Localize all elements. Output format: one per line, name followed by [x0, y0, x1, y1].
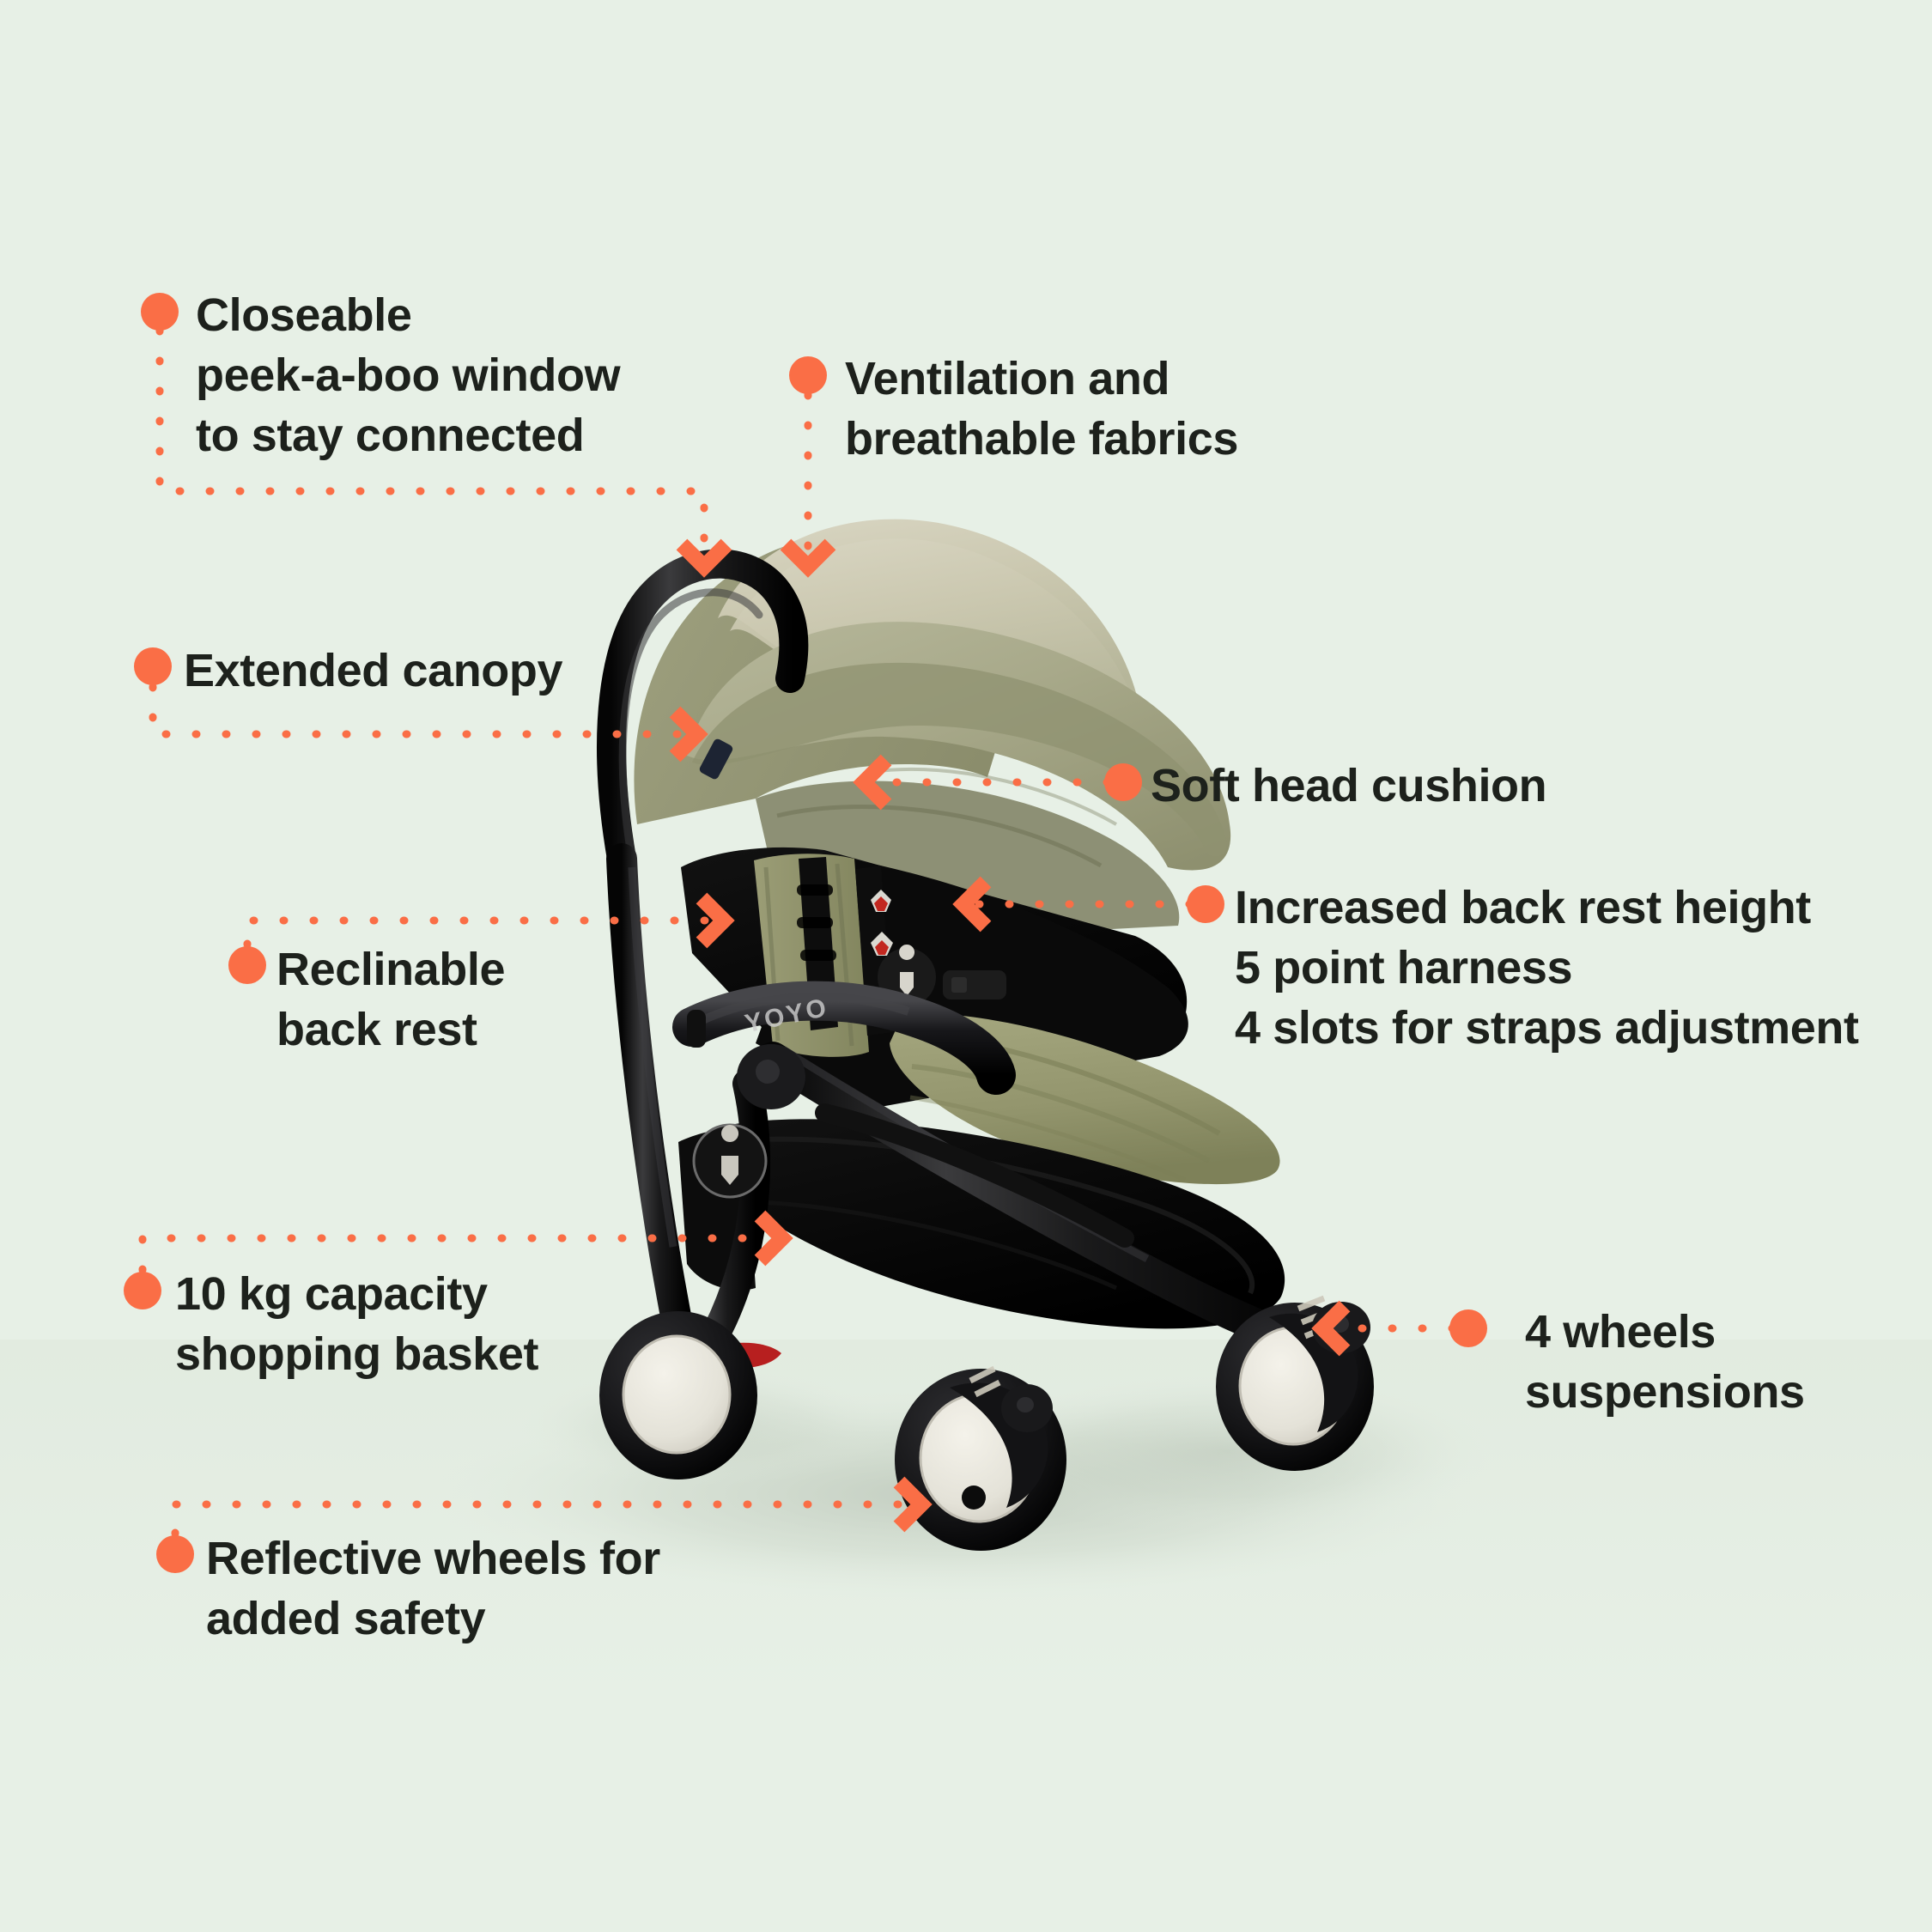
callout-label-back-rest-height: Increased back rest height 5 point harne…: [1235, 878, 1859, 1059]
infographic-canvas: YOYO: [0, 0, 1932, 1932]
callout-label-peek-a-boo-window: Closeable peek-a-boo window to stay conn…: [196, 285, 620, 466]
callout-label-reclinable-back-rest: Reclinable back rest: [276, 939, 505, 1060]
callout-dot-peek-a-boo-window[interactable]: [141, 293, 179, 331]
callout-dot-back-rest-height[interactable]: [1187, 885, 1224, 923]
callout-dot-reclinable-back-rest[interactable]: [228, 946, 266, 984]
callout-dot-wheels-suspensions[interactable]: [1449, 1309, 1487, 1347]
callout-label-ventilation: Ventilation and breathable fabrics: [845, 349, 1238, 469]
callout-label-extended-canopy: Extended canopy: [184, 641, 562, 701]
callout-dot-shopping-basket[interactable]: [124, 1272, 161, 1309]
callout-dot-extended-canopy[interactable]: [134, 647, 172, 685]
callout-label-soft-head-cushion: Soft head cushion: [1151, 756, 1546, 816]
callout-dot-ventilation[interactable]: [789, 356, 827, 394]
callout-label-shopping-basket: 10 kg capacity shopping basket: [175, 1264, 538, 1384]
callout-label-wheels-suspensions: 4 wheels suspensions: [1525, 1302, 1805, 1422]
callout-label-reflective-wheels: Reflective wheels for added safety: [206, 1528, 660, 1649]
callout-dot-reflective-wheels[interactable]: [156, 1535, 194, 1573]
callout-dot-soft-head-cushion[interactable]: [1104, 763, 1142, 801]
